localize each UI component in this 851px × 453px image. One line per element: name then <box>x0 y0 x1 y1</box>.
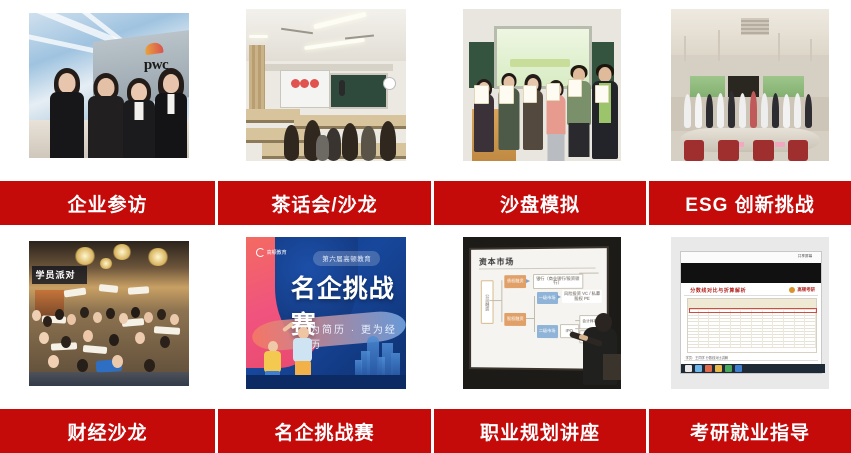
party-banner-text: 学员派对 <box>35 268 75 281</box>
caption-tile-8[interactable]: 考研就业指导 <box>649 409 851 453</box>
conference-hall-group-photo <box>671 9 829 161</box>
photo-strip-1: pwc <box>0 0 851 165</box>
caption-tile-7[interactable]: 职业规划讲座 <box>434 409 646 453</box>
tile-7-photo-cell[interactable]: 资本市场 公司融资 债权融资 股权融资 银行（商业银行/投资银行） 一级市场 <box>434 228 649 393</box>
slide-node-0: 公司融资 <box>481 280 494 324</box>
poster-logo: 高顿教育 <box>256 248 287 257</box>
tile-4-photo-cell[interactable] <box>649 0 851 165</box>
slide-node-5: 二级市场 <box>537 325 558 338</box>
caption-bar-row-1: 企业参访 茶话会/沙龙 沙盘模拟 ESG 创新挑战 <box>0 181 851 225</box>
capital-market-slide-photo: 资本市场 公司融资 债权融资 股权融资 银行（商业银行/投资银行） 一级市场 <box>463 237 621 389</box>
gallery-row-1: pwc <box>0 0 851 225</box>
slide-node-3: 银行（商业银行/投资银行） <box>533 274 583 289</box>
tile-2-photo-cell[interactable] <box>218 0 434 165</box>
slide-node-4: 一级市场 <box>537 292 558 305</box>
poster-logo-text: 高顿教育 <box>267 249 287 256</box>
tile-8-photo-cell[interactable]: 共享屏幕 分数线对比与折算解析 高顿考研 <box>649 228 851 393</box>
caption-tile-4[interactable]: ESG 创新挑战 <box>649 181 851 225</box>
certificate-award-photo <box>463 9 621 161</box>
caption-bar-row-2: 财经沙龙 名企挑战赛 职业规划讲座 考研就业指导 <box>0 409 851 453</box>
slide-title: 资本市场 <box>479 257 514 268</box>
photo-strip-2: 学员派对 <box>0 228 851 393</box>
slide-node-2: 股权融资 <box>505 313 527 326</box>
screen-share-spreadsheet-photo: 共享屏幕 分数线对比与折算解析 高顿考研 <box>671 237 829 389</box>
caption-tile-2[interactable]: 茶话会/沙龙 <box>218 181 431 225</box>
challenge-competition-poster: 高顿教育 第六届高顿教育 名企挑战赛 为简历 · 更为经历 <box>246 237 406 389</box>
party-crowd-photo: 学员派对 <box>29 241 189 386</box>
tile-6-photo-cell[interactable]: 高顿教育 第六届高顿教育 名企挑战赛 为简历 · 更为经历 <box>218 228 434 393</box>
classroom-lecture-photo <box>246 9 406 161</box>
tile-5-photo-cell[interactable]: 学员派对 <box>0 228 218 393</box>
spreadsheet-table <box>687 298 817 354</box>
poster-subtitle: 为简历 · 更为经历 <box>310 321 406 351</box>
caption-tile-1[interactable]: 企业参访 <box>0 181 215 225</box>
tile-3-photo-cell[interactable] <box>434 0 649 165</box>
activity-gallery-board: pwc <box>0 0 851 453</box>
slide-node-1: 债权融资 <box>505 275 527 288</box>
caption-tile-5[interactable]: 财经沙龙 <box>0 409 215 453</box>
caption-tile-6[interactable]: 名企挑战赛 <box>218 409 431 453</box>
caption-tile-3[interactable]: 沙盘模拟 <box>434 181 646 225</box>
gallery-row-2: 学员派对 <box>0 228 851 453</box>
poster-eyebrow: 第六届高顿教育 <box>313 251 380 266</box>
screen-badge: 高顿考研 <box>789 287 815 293</box>
pwc-office-group-photo: pwc <box>29 13 189 158</box>
tile-1-photo-cell[interactable]: pwc <box>0 0 218 165</box>
